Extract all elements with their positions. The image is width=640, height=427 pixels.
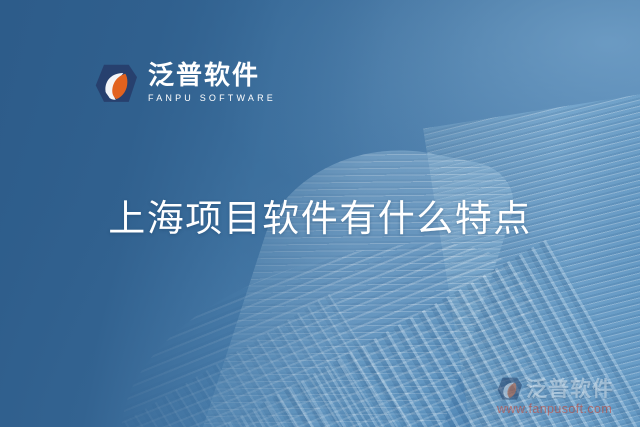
watermark-logo-row: 泛普软件 — [496, 376, 638, 402]
brand-name-en: FANPU SOFTWARE — [148, 93, 276, 105]
banner-headline: 上海项目软件有什么特点 — [0, 188, 640, 242]
watermark-fanpu-logo-mark-icon — [496, 376, 522, 402]
brand-name-cn: 泛普软件 — [148, 63, 276, 91]
brand-logo-wordmark: 泛普软件 FANPU SOFTWARE — [148, 63, 276, 105]
watermark-brand-name: 泛普软件 — [526, 379, 614, 400]
brand-logo: 泛普软件 FANPU SOFTWARE — [93, 62, 276, 106]
fanpu-logo-mark-icon — [93, 62, 137, 106]
watermark-url: www.fanpusoft.com — [497, 403, 638, 417]
promo-banner: 泛普软件 FANPU SOFTWARE 上海项目软件有什么特点 泛普软件 www… — [0, 0, 640, 427]
watermark: 泛普软件 www.fanpusoft.com — [496, 376, 638, 417]
